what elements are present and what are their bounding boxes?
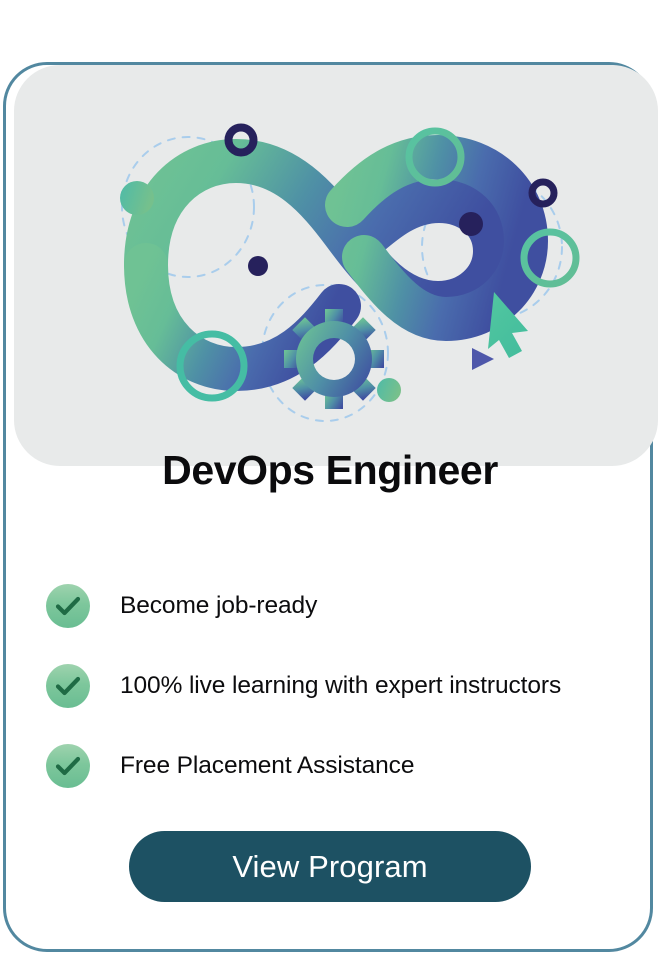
hero-illustration-panel <box>14 65 658 466</box>
screenshot-root: DevOps Engineer Become job-ready 100% li… <box>0 0 660 961</box>
list-item-label: 100% live learning with expert instructo… <box>120 664 646 708</box>
check-icon <box>46 744 90 788</box>
play-triangle-icon <box>472 348 494 370</box>
navy-dot-left <box>248 256 268 276</box>
page-title: DevOps Engineer <box>0 450 660 491</box>
gear-icon <box>284 309 384 409</box>
check-icon <box>46 664 90 708</box>
navy-ring-right <box>532 182 554 204</box>
teal-dot-left <box>120 181 154 215</box>
teal-dot-bottom <box>377 378 401 402</box>
devops-infinity-loop-illustration <box>14 65 658 466</box>
list-item-label: Free Placement Assistance <box>120 744 646 788</box>
feature-list: Become job-ready 100% live learning with… <box>46 584 646 824</box>
list-item: Free Placement Assistance <box>46 744 646 824</box>
list-item: 100% live learning with expert instructo… <box>46 664 646 744</box>
list-item-label: Become job-ready <box>120 584 646 628</box>
view-program-button[interactable]: View Program <box>129 831 531 902</box>
check-icon <box>46 584 90 628</box>
list-item: Become job-ready <box>46 584 646 664</box>
navy-dot-right <box>459 212 483 236</box>
